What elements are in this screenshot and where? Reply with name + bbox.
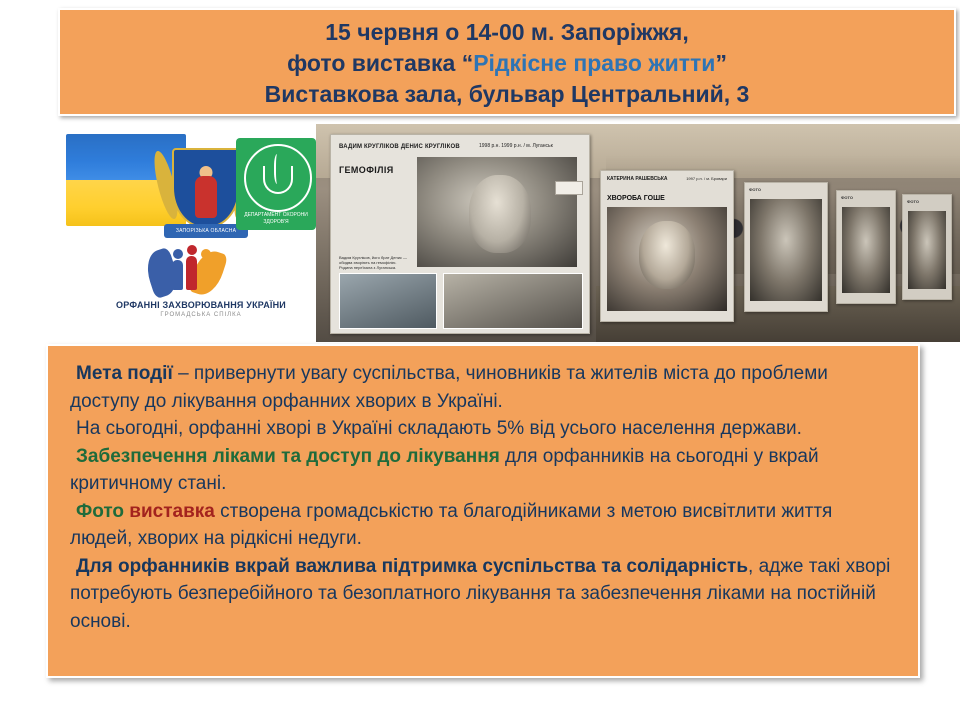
paragraph-solidarity-lead: Для орфанників вкрай важлива підтримка с…: [76, 556, 748, 577]
orphan-logo-subcaption: ГРОМАДСЬКА СПІЛКА: [106, 312, 296, 318]
photo-portrait-5: [908, 211, 946, 289]
paragraph-goal-rest: – привернути увагу суспільства, чиновник…: [70, 363, 828, 412]
header-line-1: 15 червня о 14-00 м. Запоріжжя,: [325, 17, 688, 48]
orphan-logo-caption: ОРФАННІ ЗАХВОРЮВАННЯ УКРАЇНИ: [106, 300, 296, 310]
person-figure-blue-icon: [172, 260, 183, 290]
description-text-box: Мета події – привернути увагу суспільств…: [46, 344, 920, 678]
panel-1-title: ВАДИМ КРУГЛІКОВ ДЕНИС КРУГЛІКОВ: [339, 143, 469, 151]
coat-shield: [172, 148, 240, 228]
panel-1-date: 1998 р.н. 1999 р.н. / м. Луганськ: [479, 143, 553, 150]
photo-face-1: [469, 175, 531, 253]
photo-portrait-1: [417, 157, 577, 267]
photo-exhibit-panel-5: ФОТО: [902, 194, 952, 300]
cossack-figure: [195, 176, 217, 218]
health-department-emblem-icon: ДЕПАРТАМЕНТ ОХОРОНИ ЗДОРОВ'Я: [236, 138, 316, 230]
photo-portrait-2: [607, 207, 727, 311]
photo-exhibit-panel-1: ВАДИМ КРУГЛІКОВ ДЕНИС КРУГЛІКОВ ГЕМОФІЛІ…: [330, 134, 590, 334]
photo-portrait-3: [750, 199, 822, 301]
photo-exhibit-panel-3: ФОТО: [744, 182, 828, 312]
header-venue-text: Виставкова зала, бульвар Центральний, 3: [265, 81, 750, 107]
paragraph-solidarity: Для орфанників вкрай важлива підтримка с…: [70, 553, 896, 636]
emblem-label: ДЕПАРТАМЕНТ ОХОРОНИ ЗДОРОВ'Я: [236, 212, 316, 226]
emblem-circle: [244, 144, 312, 212]
panel-2-subtitle: ХВОРОБА ГОШЕ: [607, 195, 665, 202]
panel-5-caption: ФОТО: [907, 199, 919, 204]
header-line-1-text: 15 червня о 14-00 м. Запоріжжя,: [325, 19, 688, 45]
panel-1-photo-b: [443, 273, 583, 329]
paragraph-medicine-access-lead: Забезпечення ліками та доступ до лікуван…: [76, 446, 500, 467]
paragraph-goal-lead: Мета події: [76, 363, 173, 384]
photo-face-2: [639, 221, 695, 289]
photo-exhibit-panel-4: ФОТО: [836, 190, 896, 304]
header-exhibition-title: Рідкісне право житти: [473, 50, 715, 76]
panel-3-caption: ФОТО: [749, 187, 761, 192]
paragraph-photo-lead-1: Фото: [76, 501, 124, 522]
photo-portrait-4: [842, 207, 890, 293]
orphan-diseases-logo: ОРФАННІ ЗАХВОРЮВАННЯ УКРАЇНИ ГРОМАДСЬКА …: [106, 244, 296, 332]
panel-1-photo-a: [339, 273, 437, 329]
panel-1-badge: [555, 181, 583, 195]
panel-4-caption: ФОТО: [841, 195, 853, 200]
paragraph-photo-exhibition: Фото виставка створена громадськістю та …: [70, 498, 896, 553]
header-line-2: фото виставка “Рідкісне право житти”: [287, 48, 727, 79]
paragraph-statistics-text: На сьогодні, орфанні хворі в Україні скл…: [76, 418, 802, 439]
header-line-2-prefix: фото виставка “: [287, 50, 473, 76]
header-line-3: Виставкова зала, бульвар Центральний, 3: [265, 79, 750, 110]
photo-exhibit-panel-2: КАТЕРИНА РАШЕВСЬКА 1997 р.н. / м. Бровар…: [600, 170, 734, 322]
person-figure-orange-icon: [200, 260, 211, 290]
logos-block: ЗАПОРІЗЬКА ОБЛАСНА ДЕРЖАВНА АДМІНІСТРАЦІ…: [58, 126, 318, 336]
paragraph-statistics: На сьогодні, орфанні хворі в Україні скл…: [70, 415, 896, 443]
header-banner: 15 червня о 14-00 м. Запоріжжя, фото вис…: [58, 8, 956, 116]
panel-2-title: КАТЕРИНА РАШЕВСЬКА: [607, 176, 668, 183]
exhibition-photo: ВАДИМ КРУГЛІКОВ ДЕНИС КРУГЛІКОВ ГЕМОФІЛІ…: [316, 124, 960, 342]
paragraph-medicine-access: Забезпечення ліками та доступ до лікуван…: [70, 443, 896, 498]
panel-1-subtitle: ГЕМОФІЛІЯ: [339, 165, 394, 175]
person-figure-red-icon: [186, 256, 197, 290]
snake-icon: [274, 154, 282, 184]
header-line-2-suffix: ”: [715, 50, 727, 76]
panel-2-date: 1997 р.н. / м. Бровари: [686, 176, 727, 181]
paragraph-photo-lead-2: виставка: [124, 501, 215, 522]
paragraph-goal: Мета події – привернути увагу суспільств…: [70, 360, 896, 415]
